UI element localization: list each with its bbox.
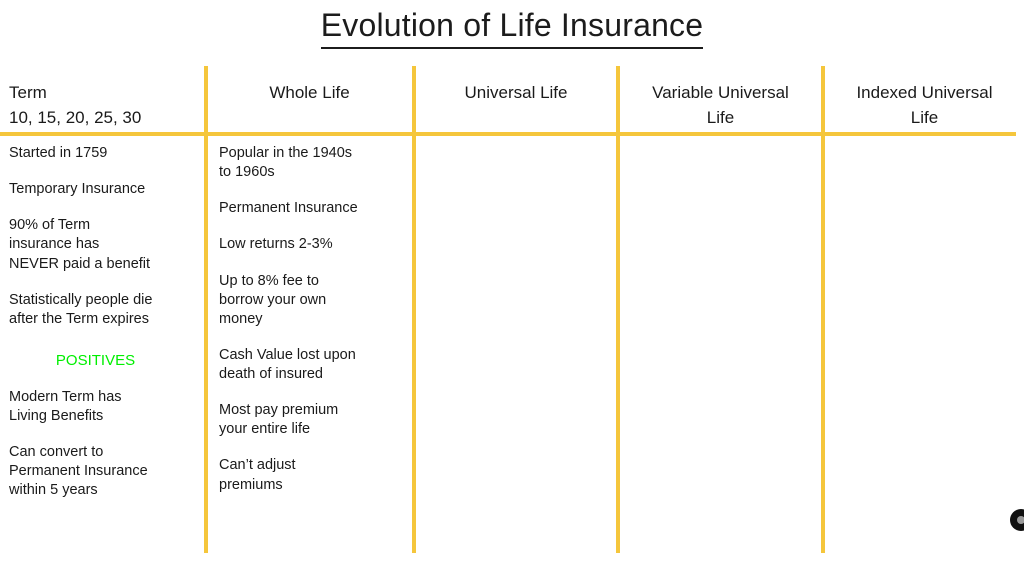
column-header-universal-life: Universal Life xyxy=(426,62,606,132)
list-item: Statistically people die after the Term … xyxy=(9,291,196,329)
list-item: Started in 1759 xyxy=(9,144,196,163)
list-item: Up to 8% fee to borrow your own money xyxy=(219,272,400,329)
column-header-indexed-universal-life: Indexed Universal Life xyxy=(835,62,1014,132)
page-title: Evolution of Life Insurance xyxy=(321,9,704,49)
slide-title-container: Evolution of Life Insurance xyxy=(0,0,1024,58)
list-item: Modern Term has Living Benefits xyxy=(9,388,196,426)
list-item: Temporary Insurance xyxy=(9,180,196,199)
comparison-table: Term 10, 15, 20, 25, 30 Started in 1759 … xyxy=(0,62,1024,562)
list-item: Cash Value lost upon death of insured xyxy=(219,346,400,384)
list-item: Low returns 2-3% xyxy=(219,235,400,254)
column-body-indexed-universal-life xyxy=(835,132,1014,144)
list-item: Can’t adjust premiums xyxy=(219,456,400,494)
positives-label: POSITIVES xyxy=(9,351,196,371)
column-body-variable-universal-life xyxy=(630,132,811,144)
column-body-whole-life: Popular in the 1940s to 1960s Permanent … xyxy=(219,132,400,495)
list-item: Popular in the 1940s to 1960s xyxy=(219,144,400,182)
column-header-whole-life: Whole Life xyxy=(219,62,400,132)
list-item: Permanent Insurance xyxy=(219,199,400,218)
column-body-universal-life xyxy=(426,132,606,144)
list-item: Can convert to Permanent Insurance withi… xyxy=(9,443,196,500)
table-column-term: Term 10, 15, 20, 25, 30 Started in 1759 … xyxy=(0,62,204,562)
column-header-variable-universal-life: Variable Universal Life xyxy=(630,62,811,132)
table-column-universal-life: Universal Life xyxy=(416,62,616,562)
table-column-whole-life: Whole Life Popular in the 1940s to 1960s… xyxy=(208,62,412,562)
list-item: 90% of Term insurance has NEVER paid a b… xyxy=(9,216,196,273)
column-header-term: Term 10, 15, 20, 25, 30 xyxy=(9,62,196,132)
table-column-variable-universal-life: Variable Universal Life xyxy=(620,62,821,562)
list-item: Most pay premium your entire life xyxy=(219,401,400,439)
table-column-indexed-universal-life: Indexed Universal Life xyxy=(825,62,1024,562)
column-body-term: Started in 1759 Temporary Insurance 90% … xyxy=(9,132,196,500)
